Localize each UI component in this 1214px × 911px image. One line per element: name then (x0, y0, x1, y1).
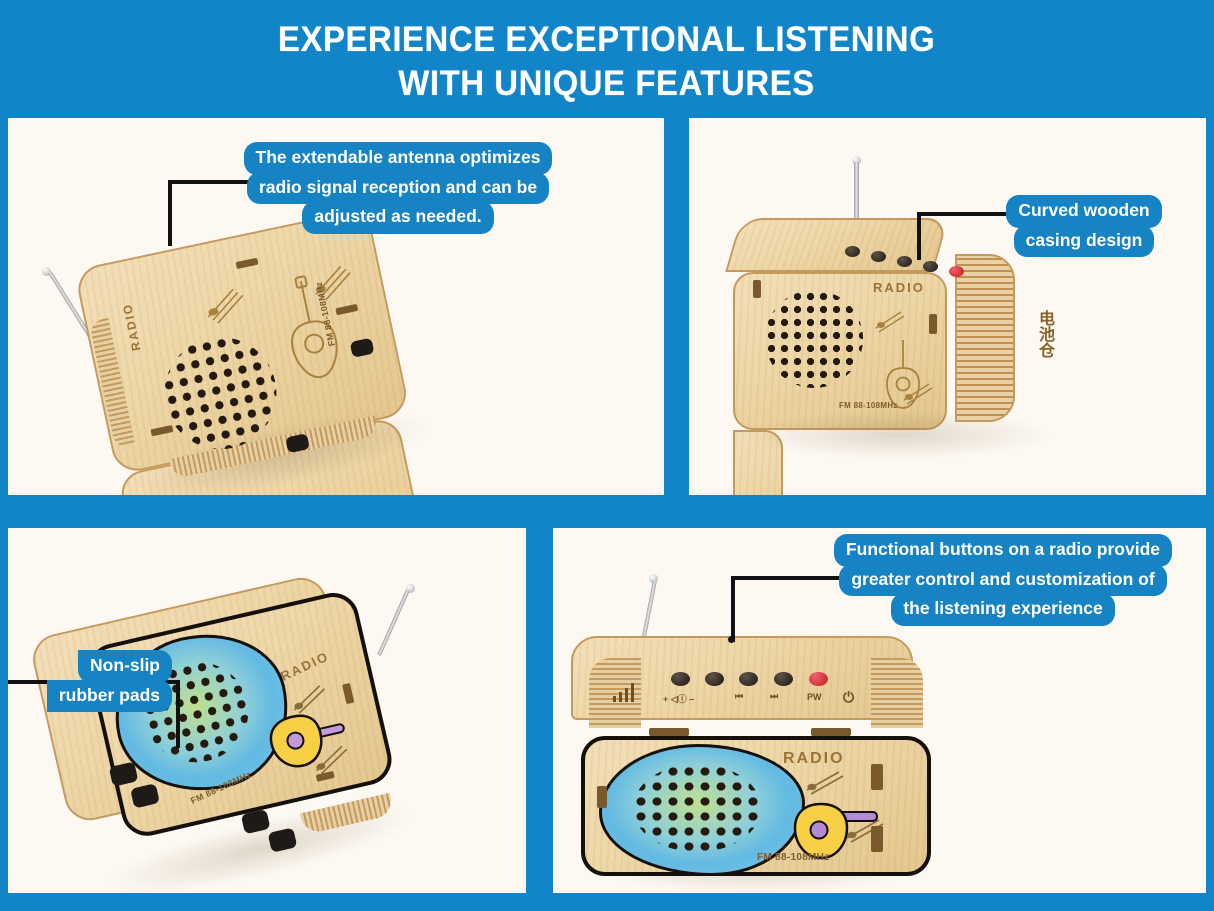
callout-buttons: Functional buttons on a radio provide gr… (808, 534, 1198, 623)
leader-line-vertical (176, 680, 180, 748)
speaker-grille (633, 764, 761, 852)
battery-compartment-text: 电池仓 (1019, 310, 1053, 358)
music-note-icon (843, 814, 897, 846)
page-title-line-1: EXPERIENCE EXCEPTIONAL LISTENING (278, 18, 935, 62)
leader-endpoint-dot (728, 636, 735, 643)
product-frequency-label: FM 88-108MHz (757, 852, 830, 863)
button-label-power: ⏻ (843, 689, 854, 706)
button-label-pw: PW (807, 692, 822, 702)
leader-line-vertical (731, 576, 735, 642)
callout-line: The extendable antenna optimizes (244, 142, 553, 175)
music-note-icon (901, 378, 943, 406)
callout-line: greater control and customization of (839, 564, 1166, 597)
product-image-radio-front: RADIO FM 88-108MHz (74, 201, 449, 495)
next-button[interactable] (774, 672, 793, 686)
button-label-volume: + ◁ⓘ – (663, 692, 694, 705)
product-image-radio-painted: RADIO FM 88-108MHz (28, 559, 444, 893)
volume-button-2[interactable] (705, 672, 724, 686)
previous-button[interactable] (739, 672, 758, 686)
page-title-line-2: WITH UNIQUE FEATURES (399, 62, 815, 106)
callout-casing: Curved wooden casing design (995, 195, 1173, 254)
callout-antenna: The extendable antenna optimizes radio s… (228, 142, 568, 231)
music-note-icon (803, 766, 857, 798)
callout-rubber-pads: Non-slip rubber pads (0, 650, 172, 709)
callout-line: radio signal reception and can be (247, 172, 549, 205)
button-label-next: ⏭ (770, 691, 778, 702)
callout-line: Curved wooden (1006, 195, 1161, 228)
volume-button[interactable] (671, 672, 690, 686)
curved-slatted-side (955, 254, 1015, 422)
leader-line-vertical (917, 212, 921, 260)
signal-icon (611, 680, 639, 704)
callout-line: adjusted as needed. (302, 201, 493, 234)
product-frequency-label: FM 88-108MHz (839, 401, 898, 410)
callout-line: Non-slip (78, 650, 172, 683)
page-title: EXPERIENCE EXCEPTIONAL LISTENING WITH UN… (0, 0, 1214, 118)
feature-panel-casing: RADIO FM 88-108MHz 电池仓 (689, 118, 1206, 495)
product-brand-label: RADIO (873, 280, 925, 295)
product-image-radio-top-view: + ◁ⓘ – ⏮ ⏭ PW ⏻ RADIO (571, 636, 941, 886)
callout-line: rubber pads (47, 680, 172, 713)
button-label-previous: ⏮ (735, 691, 743, 702)
leader-line-vertical (168, 180, 172, 246)
speaker-grille (765, 290, 863, 388)
callout-line: Functional buttons on a radio provide (834, 534, 1172, 567)
callout-line: casing design (1014, 225, 1155, 258)
pw-button[interactable] (809, 672, 828, 686)
music-note-icon (873, 306, 915, 334)
callout-line: the listening experience (891, 593, 1114, 626)
